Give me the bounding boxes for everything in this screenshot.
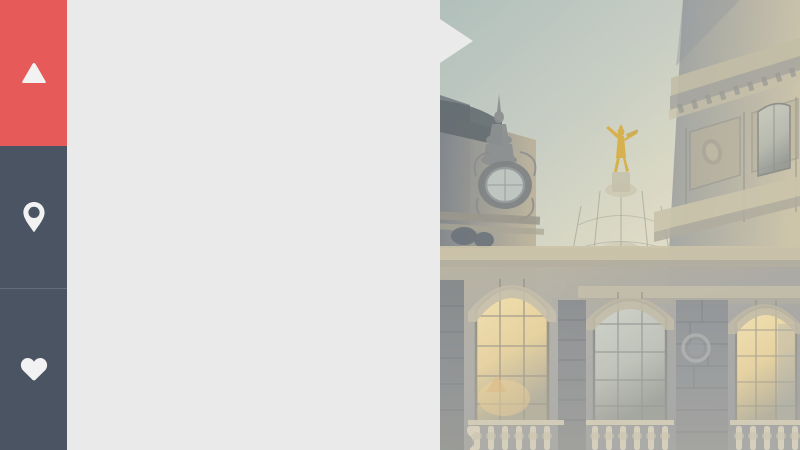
icon-rail bbox=[0, 0, 67, 450]
presentation-slide: BUSINESS POWERPOINT DESIGN DIAM NONUMMY … bbox=[0, 0, 800, 450]
triangle-up-icon bbox=[21, 62, 47, 84]
content-panel bbox=[67, 0, 440, 450]
rail-item-location[interactable] bbox=[0, 146, 67, 288]
rail-item-triangle[interactable] bbox=[0, 0, 67, 146]
hero-photo bbox=[440, 0, 800, 450]
location-pin-icon bbox=[22, 201, 46, 233]
heart-icon bbox=[20, 356, 48, 382]
rail-divider bbox=[0, 288, 67, 289]
panel-notch-arrow bbox=[440, 19, 473, 63]
rail-item-favorite[interactable] bbox=[0, 288, 67, 450]
